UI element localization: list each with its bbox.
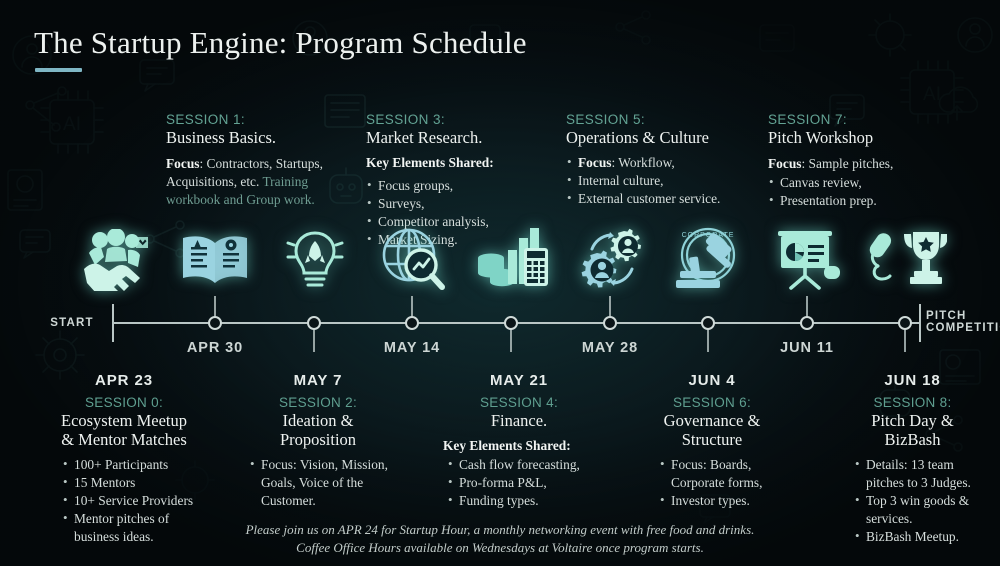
- bottom-session-block-0: APR 23 SESSION 0: Ecosystem Meetup & Men…: [44, 372, 204, 546]
- session-label: SESSION 4:: [443, 395, 595, 410]
- bottom-session-block-8: JUN 18 SESSION 8: Pitch Day & BizBash De…: [840, 372, 985, 546]
- focus-bold-label: Focus: [768, 156, 801, 171]
- session-date: MAY 21: [443, 372, 595, 389]
- session-title: Pitch Workshop: [768, 129, 968, 148]
- bottom-session-block-6: JUN 4 SESSION 6: Governance & Structure …: [641, 372, 783, 510]
- list-item: Cash flow forecasting,: [447, 456, 595, 474]
- top-session-block-5: SESSION 5: Operations & Culture Focus: W…: [566, 112, 776, 208]
- session-focus-text: Focus: Sample pitches,: [768, 155, 968, 173]
- list-item-text: : Workflow,: [611, 155, 674, 170]
- session-title: Operations & Culture: [566, 129, 776, 148]
- list-item: Details: 13 team pitches to 3 Judges.: [854, 456, 985, 492]
- lightbulb-rocket-icon: [272, 222, 358, 298]
- timeline-tick-date: MAY 28: [550, 340, 670, 356]
- session-date: MAY 7: [243, 372, 393, 389]
- session-label: SESSION 3:: [366, 112, 562, 127]
- list-item: Focus: Boards, Corporate forms,: [659, 456, 783, 492]
- session-title: Ideation & Proposition: [243, 411, 393, 449]
- globe-magnifier-icon: [371, 222, 457, 298]
- session-label: SESSION 1:: [166, 112, 362, 127]
- list-item: 15 Mentors: [62, 474, 204, 492]
- open-book-icon: [172, 222, 258, 298]
- session-title: Market Research.: [366, 129, 562, 148]
- timeline-end-label-line2: COMPETITION: [926, 322, 1000, 334]
- coins-calculator-chart-icon: [470, 222, 556, 298]
- microphone-trophy-icon: [864, 222, 950, 298]
- session-date: JUN 18: [840, 372, 985, 389]
- session-label: SESSION 6:: [641, 395, 783, 410]
- footer-line-2: Coffee Office Hours available on Wednesd…: [0, 539, 1000, 557]
- focus-bold-label: Focus: [166, 156, 199, 171]
- timeline-end-label-line1: PITCH: [926, 310, 1000, 322]
- timeline-start-label: START: [40, 317, 104, 329]
- list-item: 100+ Participants: [62, 456, 204, 474]
- list-item: Focus groups,: [366, 177, 562, 195]
- session-label: SESSION 0:: [44, 395, 204, 410]
- session-date: APR 23: [44, 372, 204, 389]
- key-elements-heading: Key Elements Shared:: [366, 155, 562, 171]
- bottom-session-block-2: MAY 7 SESSION 2: Ideation & Proposition …: [243, 372, 393, 510]
- list-item: Funding types.: [447, 492, 595, 510]
- title-underline-accent: [35, 68, 82, 72]
- presentation-board-icon: [765, 222, 851, 298]
- list-item: Canvas review,: [768, 174, 968, 192]
- session-title: Pitch Day & BizBash: [840, 411, 985, 449]
- bottom-session-block-4: MAY 21 SESSION 4: Finance. Key Elements …: [443, 372, 595, 510]
- session-date: JUN 4: [641, 372, 783, 389]
- list-item: Surveys,: [366, 195, 562, 213]
- session-bullet-list: Focus: Vision, Mission, Goals, Voice of …: [243, 456, 393, 510]
- session-label: SESSION 7:: [768, 112, 968, 127]
- list-item: External customer service.: [566, 190, 776, 208]
- list-item: 10+ Service Providers: [62, 492, 204, 510]
- timeline-tick-date: MAY 14: [352, 340, 472, 356]
- focus-text: : Sample pitches,: [801, 156, 893, 171]
- session-title: Finance.: [443, 411, 595, 430]
- list-item: Pro-forma P&L,: [447, 474, 595, 492]
- list-item: Focus: Vision, Mission, Goals, Voice of …: [249, 456, 393, 510]
- focus-bold-label: Focus: [578, 155, 611, 170]
- page-title: The Startup Engine: Program Schedule: [34, 25, 527, 61]
- session-label: SESSION 2:: [243, 395, 393, 410]
- top-session-block-7: SESSION 7: Pitch Workshop Focus: Sample …: [768, 112, 968, 210]
- gears-people-icon: [569, 222, 655, 298]
- list-item: Focus: Workflow,: [566, 154, 776, 172]
- list-item: Internal culture,: [566, 172, 776, 190]
- session-bullet-list: Cash flow forecasting, Pro-forma P&L, Fu…: [443, 456, 595, 510]
- list-item: Presentation prep.: [768, 192, 968, 210]
- footer-line-1: Please join us on APR 24 for Startup Hou…: [0, 521, 1000, 539]
- top-session-block-1: SESSION 1: Business Basics. Focus: Contr…: [166, 112, 362, 208]
- handshake-people-icon: [72, 222, 158, 298]
- session-label: SESSION 5:: [566, 112, 776, 127]
- gavel-corporate-seal-icon: CORPORATE: [666, 222, 752, 298]
- session-bullet-list: Focus: Workflow, Internal culture, Exter…: [566, 154, 776, 208]
- session-bullet-list: Focus: Boards, Corporate forms, Investor…: [641, 456, 783, 510]
- footer-note: Please join us on APR 24 for Startup Hou…: [0, 521, 1000, 558]
- session-title: Ecosystem Meetup & Mentor Matches: [44, 411, 204, 449]
- session-title: Governance & Structure: [641, 411, 783, 449]
- timeline-tick-date: APR 30: [155, 340, 275, 356]
- key-elements-heading: Key Elements Shared:: [443, 438, 595, 454]
- list-item: Investor types.: [659, 492, 783, 510]
- timeline-tick-date: JUN 11: [747, 340, 867, 356]
- session-bullet-list: Canvas review, Presentation prep.: [768, 174, 968, 210]
- session-focus-text: Focus: Contractors, Startups, Acquisitio…: [166, 155, 362, 208]
- timeline-end-label: PITCH COMPETITION: [926, 310, 1000, 334]
- session-title: Business Basics.: [166, 129, 362, 148]
- session-label: SESSION 8:: [840, 395, 985, 410]
